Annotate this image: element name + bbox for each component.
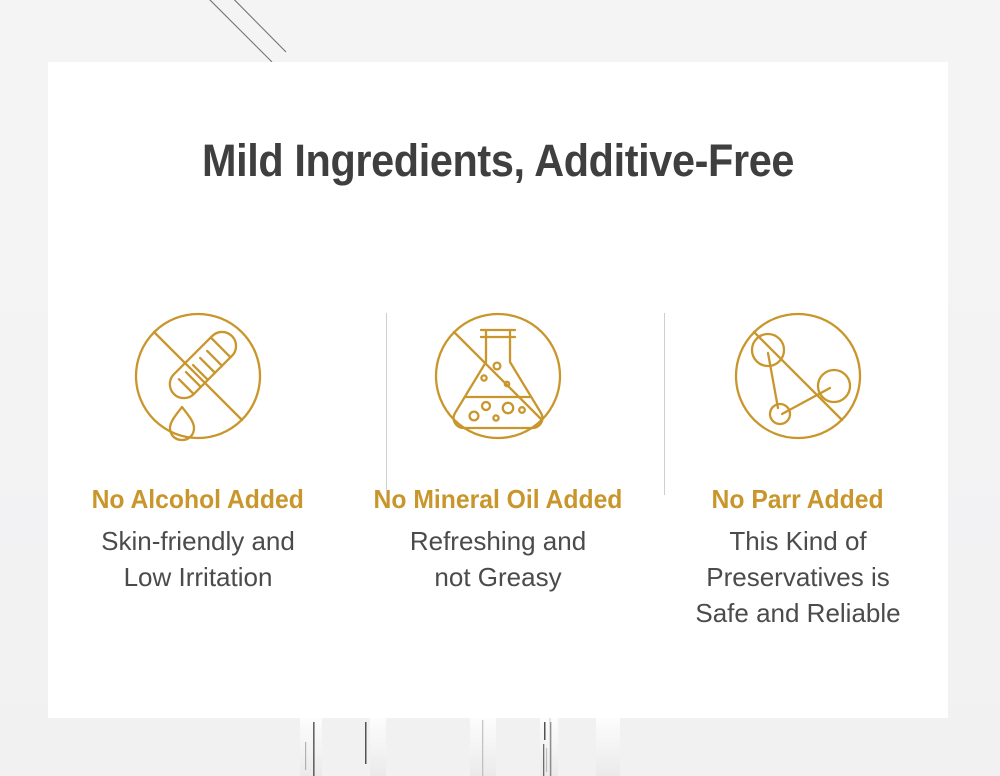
no-alcohol-dropper-icon xyxy=(122,300,274,452)
feature-heading: No Alcohol Added xyxy=(92,484,304,515)
page-title: Mild Ingredients, Additive-Free xyxy=(84,136,912,186)
feature-body-line: This Kind of xyxy=(695,524,900,560)
feature-body: Skin-friendly and Low Irritation xyxy=(101,524,295,596)
feature-body-line: Safe and Reliable xyxy=(695,596,900,632)
feature-body: This Kind of Preservatives is Safe and R… xyxy=(695,524,900,632)
feature-body-line: Skin-friendly and xyxy=(101,524,295,560)
promo-page: Mild Ingredients, Additive-Free xyxy=(0,0,1000,776)
column-divider-2 xyxy=(664,313,665,495)
no-mineral-oil-flask-icon xyxy=(422,300,574,452)
feature-body-line: Low Irritation xyxy=(101,560,295,596)
feature-body-line: not Greasy xyxy=(410,560,586,596)
feature-columns: No Alcohol Added Skin-friendly and Low I… xyxy=(48,300,948,632)
feature-heading: No Mineral Oil Added xyxy=(374,484,623,515)
feature-column-no-alcohol: No Alcohol Added Skin-friendly and Low I… xyxy=(48,300,348,596)
feature-column-no-parabens: No Parr Added This Kind of Preservatives… xyxy=(648,300,948,632)
feature-heading: No Parr Added xyxy=(712,484,884,515)
no-paraben-molecule-icon xyxy=(722,300,874,452)
feature-body: Refreshing and not Greasy xyxy=(410,524,586,596)
feature-card: Mild Ingredients, Additive-Free xyxy=(48,62,948,718)
feature-body-line: Preservatives is xyxy=(695,560,900,596)
feature-body-line: Refreshing and xyxy=(410,524,586,560)
column-divider-1 xyxy=(386,313,387,495)
feature-column-no-mineral-oil: No Mineral Oil Added Refreshing and not … xyxy=(348,300,648,596)
